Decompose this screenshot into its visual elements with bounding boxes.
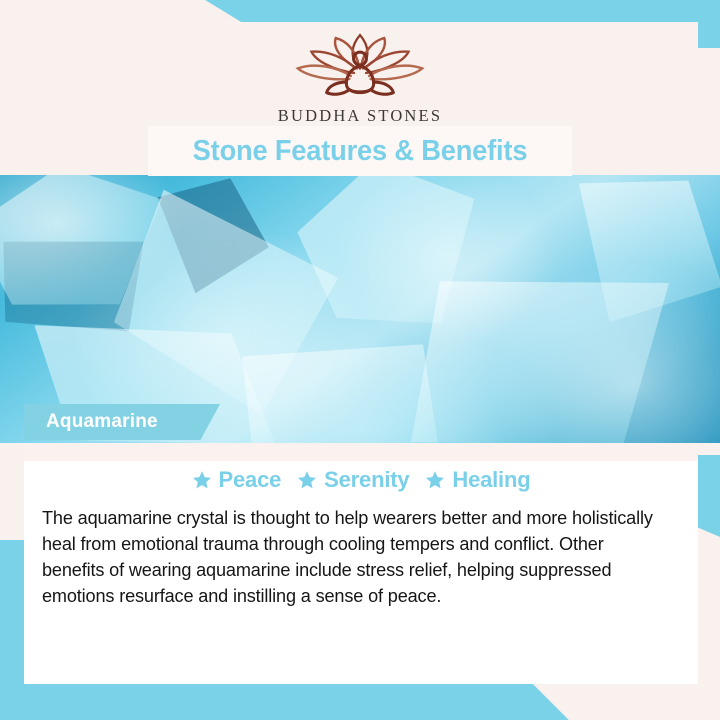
benefit-item: Serenity bbox=[297, 467, 409, 493]
benefits-row: Peace Serenity Healing bbox=[42, 461, 680, 493]
lotus-meditation-icon bbox=[284, 29, 436, 101]
stone-photo bbox=[0, 175, 720, 443]
stone-name-label: Aquamarine bbox=[46, 411, 158, 433]
benefit-label: Serenity bbox=[324, 467, 409, 493]
star-icon bbox=[297, 470, 317, 490]
star-icon bbox=[192, 470, 212, 490]
stone-description: The aquamarine crystal is thought to hel… bbox=[42, 505, 670, 609]
benefit-label: Healing bbox=[452, 467, 530, 493]
content-panel: Peace Serenity Healing The aquamarine cr… bbox=[24, 461, 698, 684]
benefit-item: Peace bbox=[192, 467, 282, 493]
title-banner: Stone Features & Benefits bbox=[148, 126, 572, 176]
corner-bar-top bbox=[0, 0, 720, 22]
brand-name: BUDDHA STONES bbox=[278, 106, 442, 126]
corner-bar-left bbox=[0, 540, 24, 720]
star-icon bbox=[425, 470, 445, 490]
benefit-label: Peace bbox=[219, 467, 282, 493]
logo: BUDDHA STONES bbox=[278, 29, 442, 126]
stone-name-tab: Aquamarine bbox=[24, 404, 220, 440]
cream-divider bbox=[24, 443, 698, 461]
benefit-item: Healing bbox=[425, 467, 530, 493]
page-title: Stone Features & Benefits bbox=[193, 135, 528, 168]
